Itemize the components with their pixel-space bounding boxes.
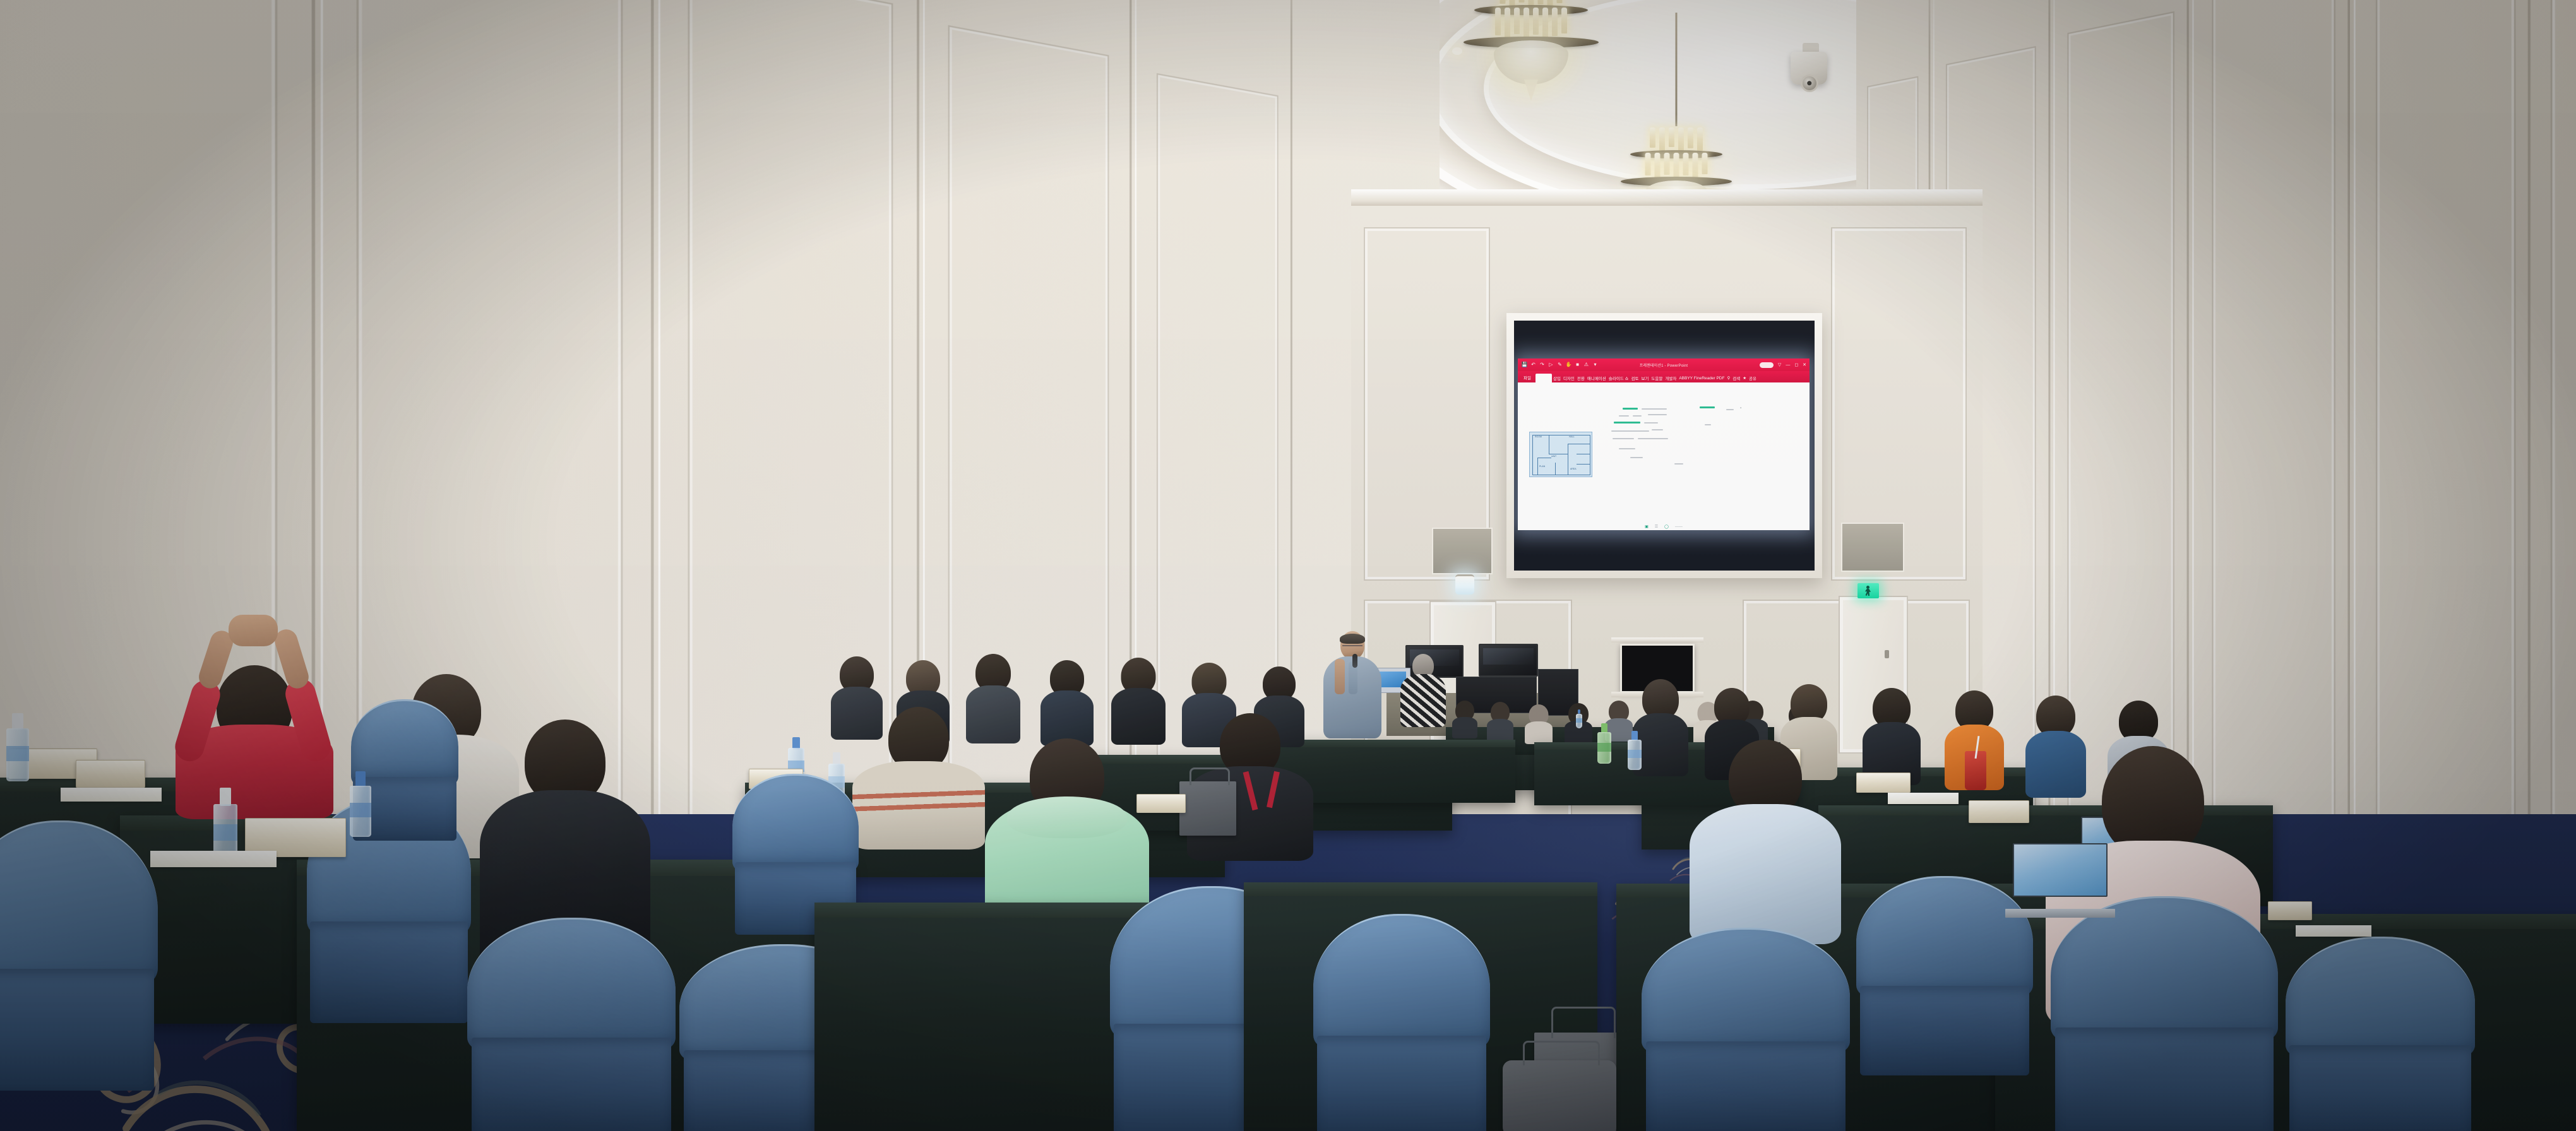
present-icon[interactable]: ▷ (1548, 362, 1554, 368)
conference-hall-photo: 💾 ↶ ↷ ▷ ✎ ✋ ■ ⚠ ▾ 프레젠테이션1 - PowerPoint ▽… (0, 0, 2576, 1131)
close-icon[interactable]: ✕ (1803, 363, 1806, 367)
laptop-keyboard[interactable] (2005, 909, 2115, 918)
water-bottle (1628, 731, 1642, 770)
share-label[interactable]: 공유 (1749, 375, 1756, 381)
tote-bag (1179, 781, 1236, 836)
quick-access-toolbar[interactable]: 💾 ↶ ↷ ▷ ✎ ✋ ■ ⚠ ▾ (1522, 362, 1598, 368)
chair[interactable] (2286, 937, 2475, 1131)
chair[interactable] (1856, 876, 2033, 1072)
lunch-box (2268, 901, 2312, 920)
camera-lens-icon (1801, 74, 1818, 92)
tab-abbyy[interactable]: ABBYY FineReader PDF (1679, 376, 1724, 381)
chandelier-candles-top (1648, 127, 1705, 152)
water-bottle (1597, 723, 1611, 764)
av-operator (1400, 654, 1446, 727)
redo-icon[interactable]: ↷ (1539, 362, 1545, 368)
share-icon[interactable]: ★ (1743, 376, 1746, 381)
lunch-box (76, 760, 145, 788)
water-bottle (6, 713, 29, 781)
ribbon-options-icon[interactable]: ▽ (1778, 363, 1781, 367)
warning-icon[interactable]: ⚠ (1583, 362, 1589, 368)
handout-paper (61, 788, 162, 802)
handout-paper (1888, 793, 1959, 804)
wall-lamp-icon (1455, 574, 1474, 595)
account-pill[interactable] (1760, 362, 1774, 368)
eraser-icon[interactable]: ■ (1575, 362, 1580, 368)
slide-canvas[interactable]: ROOM HALL UNIT PLAN AREA (1518, 382, 1810, 530)
attendee-striped-polo (852, 707, 985, 846)
search-icon[interactable]: ⚲ (1727, 376, 1730, 381)
arm (1335, 659, 1345, 694)
tab-insert[interactable]: 삽입 (1553, 375, 1561, 381)
normal-view-icon[interactable]: ▣ (1645, 524, 1649, 529)
search-label[interactable]: 검색 (1732, 375, 1740, 381)
fireplace-mantel (1611, 637, 1703, 642)
door-transom-window (1432, 528, 1493, 574)
tab-animations[interactable]: 애니메이션 (1587, 375, 1606, 381)
attendee (1525, 704, 1553, 741)
tab-help[interactable]: 도움말 (1651, 375, 1662, 381)
wall-panel (2376, 0, 2516, 897)
tab-file[interactable]: 파일 (1520, 372, 1534, 382)
floor-plan-diagram: ROOM HALL UNIT PLAN AREA (1529, 432, 1592, 477)
napkin (150, 851, 277, 867)
attendee-lightblue-shirt (1690, 740, 1841, 942)
powerpoint-title-bar: 💾 ↶ ↷ ▷ ✎ ✋ ■ ⚠ ▾ 프레젠테이션1 - PowerPoint ▽… (1518, 358, 1810, 371)
tab-view[interactable]: 보기 (1641, 375, 1649, 381)
save-icon[interactable]: 💾 (1522, 362, 1527, 368)
touch-icon[interactable]: ✋ (1566, 362, 1571, 368)
back-wall-cornice (1351, 189, 1983, 206)
more-icon[interactable]: ▾ (1592, 362, 1598, 368)
undo-icon[interactable]: ↶ (1530, 362, 1536, 368)
lunch-box (1969, 800, 2029, 823)
tab-home-active[interactable] (1535, 374, 1552, 382)
bag-on-floor (1503, 1060, 1616, 1131)
attendee (1452, 701, 1477, 736)
water-bottle (350, 771, 371, 837)
tab-review[interactable]: 검토 (1631, 375, 1638, 381)
laptop-screen (2013, 843, 2108, 897)
lunch-box (1136, 794, 1186, 813)
chandelier-rod (1676, 13, 1678, 126)
glasses-icon (1342, 645, 1363, 649)
water-bottle (1576, 709, 1582, 728)
tab-design[interactable]: 디자인 (1563, 375, 1575, 381)
reading-view-icon[interactable]: ◯ (1664, 524, 1669, 529)
tab-transitions[interactable]: 전환 (1577, 375, 1585, 381)
attendee (1487, 702, 1513, 738)
pen (2296, 925, 2371, 937)
microphone-icon (1352, 654, 1357, 668)
chandelier-candles-mid (1643, 153, 1710, 180)
av-monitor-right (1479, 644, 1538, 677)
zoom-slider[interactable]: —— (1675, 525, 1683, 529)
slide-sorter-icon[interactable]: ☰ (1655, 524, 1658, 529)
chair[interactable] (467, 918, 676, 1131)
door-transom-window (1841, 523, 1904, 572)
chair[interactable] (1313, 914, 1490, 1131)
tab-developer[interactable]: 개발자 (1665, 375, 1676, 381)
hair (1340, 634, 1365, 644)
window-title: 프레젠테이션1 - PowerPoint (1640, 362, 1688, 368)
chandelier-finial (1524, 80, 1538, 101)
attendee-stretching-red (176, 619, 333, 814)
restore-icon[interactable]: ◻ (1794, 363, 1798, 367)
powerpoint-status-bar[interactable]: ▣ ☰ ◯ —— (1518, 524, 1810, 529)
running-man-icon (1864, 586, 1873, 596)
window-controls[interactable]: ▽ — ◻ ✕ (1760, 362, 1806, 368)
ribbon-tab-strip[interactable]: 파일 삽입 디자인 전환 애니메이션 슬라이드 쇼 검토 보기 도움말 개발자 … (1518, 371, 1810, 382)
attendee (1111, 658, 1166, 743)
lunch-box (1856, 773, 1911, 793)
chandelier-upper (1458, 0, 1604, 95)
tab-slideshow[interactable]: 슬라이드 쇼 (1609, 375, 1629, 381)
chair[interactable] (2051, 896, 2278, 1131)
attendee (1863, 688, 1921, 784)
minimize-icon[interactable]: — (1786, 363, 1790, 367)
chair[interactable] (1642, 928, 1850, 1131)
powerpoint-window[interactable]: 💾 ↶ ↷ ▷ ✎ ✋ ■ ⚠ ▾ 프레젠테이션1 - PowerPoint ▽… (1518, 358, 1810, 530)
pen-icon[interactable]: ✎ (1557, 362, 1563, 368)
projection-screen: 💾 ↶ ↷ ▷ ✎ ✋ ■ ⚠ ▾ 프레젠테이션1 - PowerPoint ▽… (1514, 321, 1815, 571)
wall-panel (2551, 0, 2576, 915)
attendee (1041, 660, 1094, 745)
chair[interactable] (0, 820, 158, 1086)
laptop[interactable] (2013, 843, 2108, 918)
torso (1400, 674, 1446, 727)
clasped-hands (229, 615, 278, 646)
ribbon-tabs-rest[interactable]: 삽입 디자인 전환 애니메이션 슬라이드 쇼 검토 보기 도움말 개발자 ABB… (1553, 375, 1756, 382)
emergency-exit-sign (1857, 583, 1879, 598)
chandelier-candles-mid (1493, 8, 1569, 40)
door-handle[interactable] (1885, 650, 1889, 658)
jacket-hood (1007, 796, 1127, 838)
